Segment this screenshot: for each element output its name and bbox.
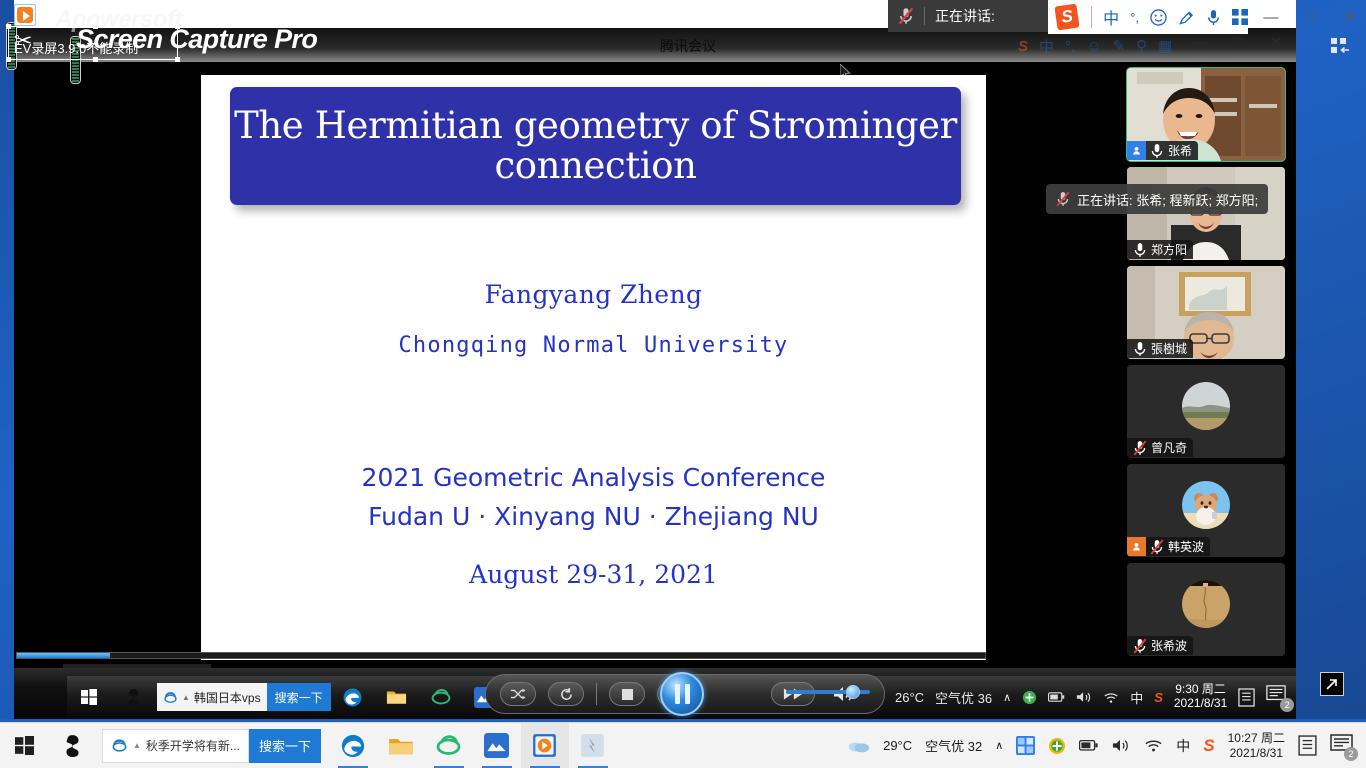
wifi-icon[interactable] [1144, 738, 1163, 753]
mountain-app-icon[interactable] [473, 723, 521, 768]
edge-icon[interactable] [331, 687, 375, 708]
maximize-button[interactable]: □ [1306, 9, 1315, 26]
participant-tile-zengfanqi[interactable]: 曾凡奇 [1127, 365, 1285, 458]
participant-tile-hanyingbo[interactable]: 韩英波 [1127, 464, 1285, 557]
inner-ime-icon[interactable]: 中 [1130, 688, 1143, 707]
sogou-logo-icon[interactable]: S [1054, 4, 1079, 31]
inner-clock-date: 2021/8/31 [1174, 697, 1227, 711]
avatar [1182, 580, 1230, 628]
mic-on-icon [1149, 143, 1165, 159]
stop-icon[interactable] [609, 682, 645, 706]
handwriting-ghost-icon: ✎ [1113, 37, 1126, 55]
weather-icon[interactable] [848, 738, 870, 754]
voice-input-icon[interactable] [1206, 9, 1221, 26]
participant-tile-zhangxibo[interactable]: 张希波 [1127, 563, 1285, 656]
mic-muted-icon [1149, 539, 1165, 555]
notification-count: 2 [1280, 698, 1294, 712]
ime-chinese-icon[interactable]: 中 [1103, 5, 1119, 29]
participant-nameplate: 張樹城 [1127, 339, 1193, 358]
weather-temp: 29°C [883, 738, 912, 753]
file-explorer-icon[interactable] [377, 723, 425, 768]
emoji-ghost-icon: ☺ [1086, 38, 1101, 55]
tray-chevron-icon[interactable]: ∧ [995, 739, 1003, 752]
avatar [1182, 382, 1230, 430]
clock[interactable]: 10:27 周二 2021/8/31 [1228, 731, 1285, 760]
participant-nameplate: 郑方阳 [1127, 240, 1193, 259]
sogou-logo-ghost: S [1018, 38, 1028, 55]
sogou-icon[interactable] [48, 723, 96, 768]
inner-system-tray[interactable]: 26°C 空气优 36 ∧ 中 S 9:30 周二 2021/8/31 2 [895, 676, 1292, 718]
outer-window-controls: — □ ✕ [1263, 0, 1356, 34]
minimize-button[interactable]: — [1263, 9, 1278, 26]
ime-chinese-ghost-icon: 中 [1039, 36, 1054, 57]
media-player-icon[interactable] [521, 723, 569, 768]
shield-icon[interactable] [1022, 690, 1037, 705]
divider [596, 683, 597, 705]
avatar [1182, 481, 1230, 529]
air-quality: 空气优 32 [925, 736, 982, 755]
battery-icon[interactable] [1048, 691, 1065, 703]
sogou-ime-toolbar[interactable]: S 中 °, [1048, 0, 1248, 34]
host-badge-icon [1127, 141, 1146, 160]
handwriting-icon[interactable] [1178, 9, 1195, 26]
inner-sogou-tray-icon[interactable]: S [1154, 690, 1163, 705]
participant-nameplate: 曾凡奇 [1127, 438, 1193, 457]
speaking-status-text: 正在讲话: [935, 6, 995, 26]
inner-tray-chevron-icon[interactable]: ∧ [1003, 691, 1011, 704]
search-button-inner[interactable]: 搜索一下 [267, 683, 331, 711]
notification-icon[interactable]: 2 [1330, 733, 1356, 759]
repeat-icon[interactable] [548, 682, 584, 706]
share-progress-bar[interactable] [16, 652, 986, 659]
notes-icon[interactable] [1298, 735, 1317, 756]
slide-title-box: The Hermitian geometry of Strominger con… [230, 87, 961, 205]
wifi-icon[interactable] [1103, 691, 1119, 704]
sogou-toolbar-reflection: S 中 °, ☺ ✎ ⚲ ▦ [1008, 30, 1198, 62]
pause-icon [675, 684, 690, 704]
screen-root: 腾讯会议 — □ ✕ S 中 °, ☺ ✎ ⚲ ▦ The Hermitian … [0, 0, 1366, 768]
slide-date: August 29-31, 2021 [201, 560, 986, 589]
toolbox-ghost-icon: ▦ [1158, 37, 1172, 55]
slide-title-line-1: The Hermitian geometry of Strominger [234, 106, 957, 146]
mic-muted-icon [1127, 440, 1148, 456]
participant-name: 张希波 [1151, 637, 1187, 654]
capture-app-icon[interactable] [569, 723, 617, 768]
clock-date: 2021/8/31 [1228, 746, 1285, 760]
inner-clock-time: 9:30 周二 [1174, 683, 1227, 697]
meeting-title: 腾讯会议 [660, 36, 716, 56]
news-chip-inner[interactable]: ▲ 韩国日本vps [157, 683, 267, 711]
clock-time: 10:27 周二 [1228, 731, 1285, 745]
inner-weather: 26°C [895, 690, 924, 705]
participant-tile-zhangshucheng[interactable]: 張樹城 [1127, 266, 1285, 359]
participant-nameplate: 韩英波 [1127, 537, 1210, 556]
punctuation-ghost-icon: °, [1065, 38, 1075, 55]
mic-muted-icon [898, 7, 914, 25]
file-explorer-icon[interactable] [375, 688, 419, 706]
sogou-tray-icon[interactable]: S [1203, 736, 1214, 756]
ie-icon [163, 690, 178, 705]
expand-icon[interactable] [1320, 672, 1344, 696]
volume-slider-knob[interactable] [846, 685, 860, 699]
restore-down-icon[interactable] [1324, 36, 1354, 60]
ime-icon[interactable]: 中 [1176, 736, 1190, 756]
slide-conference-line-1: 2021 Geometric Analysis Conference [201, 459, 986, 498]
news-chip-arrow-icon: ▲ [133, 741, 141, 750]
sogou-icon[interactable] [111, 688, 155, 707]
participant-name: 张希 [1168, 142, 1192, 159]
punctuation-icon[interactable]: °, [1130, 10, 1139, 25]
volume-icon[interactable] [1112, 738, 1131, 753]
shuffle-icon[interactable] [500, 682, 536, 706]
slide-title-line-2: connection [494, 146, 696, 186]
search-button[interactable]: 搜索一下 [249, 729, 321, 763]
meeting-window-controls: — □ ✕ [1193, 33, 1282, 51]
participant-name: 張樹城 [1151, 340, 1187, 357]
mic-on-icon [1127, 341, 1148, 357]
system-tray[interactable]: 29°C 空气优 32 ∧ 中 S 10:27 周二 2021/8/31 [848, 731, 1366, 760]
mic-muted-icon [1127, 638, 1148, 654]
edge-icon[interactable] [329, 723, 377, 768]
host-badge-icon [1127, 537, 1146, 556]
news-chip-text: 秋季开学将有新... [146, 737, 240, 754]
mic-on-icon [1127, 242, 1148, 258]
battery-icon[interactable] [1079, 739, 1099, 752]
participant-nameplate: 张希波 [1127, 636, 1193, 655]
shield-icon[interactable] [1048, 737, 1066, 755]
toolbox-icon[interactable] [1232, 9, 1248, 25]
participant-name: 曾凡奇 [1151, 439, 1187, 456]
ie-icon[interactable] [419, 687, 463, 707]
windows-taskbar[interactable]: ▲ 秋季开学将有新... 搜索一下 29°C 空气优 32 ∧ [0, 722, 1366, 768]
volume-tray-icon[interactable] [1076, 690, 1092, 704]
slide-affiliation: Chongqing Normal University [201, 333, 986, 358]
apowersoft-product-title: Screen Capture Pro [76, 24, 317, 55]
news-chip-arrow-icon: ▲ [182, 693, 190, 702]
slide-author: Fangyang Zheng [201, 280, 986, 309]
news-chip[interactable]: ▲ 秋季开学将有新... [102, 729, 249, 763]
play-icon[interactable] [14, 4, 36, 26]
slide-conference-line-2: Fudan U · Xinyang NU · Zhejiang NU [201, 498, 986, 537]
divider [1091, 6, 1092, 28]
mic-muted-icon [1056, 191, 1070, 207]
shared-slide: The Hermitian geometry of Strominger con… [201, 75, 986, 660]
participant-tile-zhangxi[interactable]: 张希 [1127, 68, 1285, 161]
fast-forward-icon[interactable] [771, 682, 815, 706]
notes-icon[interactable] [1238, 688, 1255, 707]
inner-air-quality: 空气优 36 [935, 688, 992, 707]
share-progress-fill [17, 653, 110, 658]
ie-icon[interactable] [425, 723, 473, 768]
news-chip-text: 韩国日本vps [194, 689, 261, 706]
ie-icon [111, 737, 128, 754]
windows-start-icon[interactable] [0, 723, 48, 768]
inner-clock[interactable]: 9:30 周二 2021/8/31 [1174, 683, 1227, 711]
screenshot-tool-icon[interactable] [1016, 736, 1035, 755]
participant-name: 韩英波 [1168, 538, 1204, 555]
participant-rail[interactable]: 张希 [1110, 62, 1296, 660]
meeting-close-button[interactable]: ✕ [1269, 33, 1282, 51]
voice-ghost-icon: ⚲ [1136, 37, 1147, 55]
pause-button[interactable] [660, 672, 704, 716]
slide-conference: 2021 Geometric Analysis Conference Fudan… [201, 459, 986, 537]
meeting-maximize-button[interactable]: □ [1234, 34, 1243, 51]
participant-name: 郑方阳 [1151, 241, 1187, 258]
notification-count: 2 [1344, 747, 1358, 761]
notification-icon[interactable]: 2 [1266, 684, 1292, 710]
speaking-toast: 正在讲话: 张希; 程新跃; 郑方阳; [1046, 184, 1268, 214]
divider [924, 7, 925, 25]
emoji-icon[interactable] [1150, 9, 1167, 26]
participant-nameplate: 张希 [1127, 141, 1198, 160]
windows-start-icon[interactable] [67, 689, 111, 705]
close-button[interactable]: ✕ [1343, 8, 1356, 26]
speaking-toast-text: 正在讲话: 张希; 程新跃; 郑方阳; [1077, 190, 1258, 209]
